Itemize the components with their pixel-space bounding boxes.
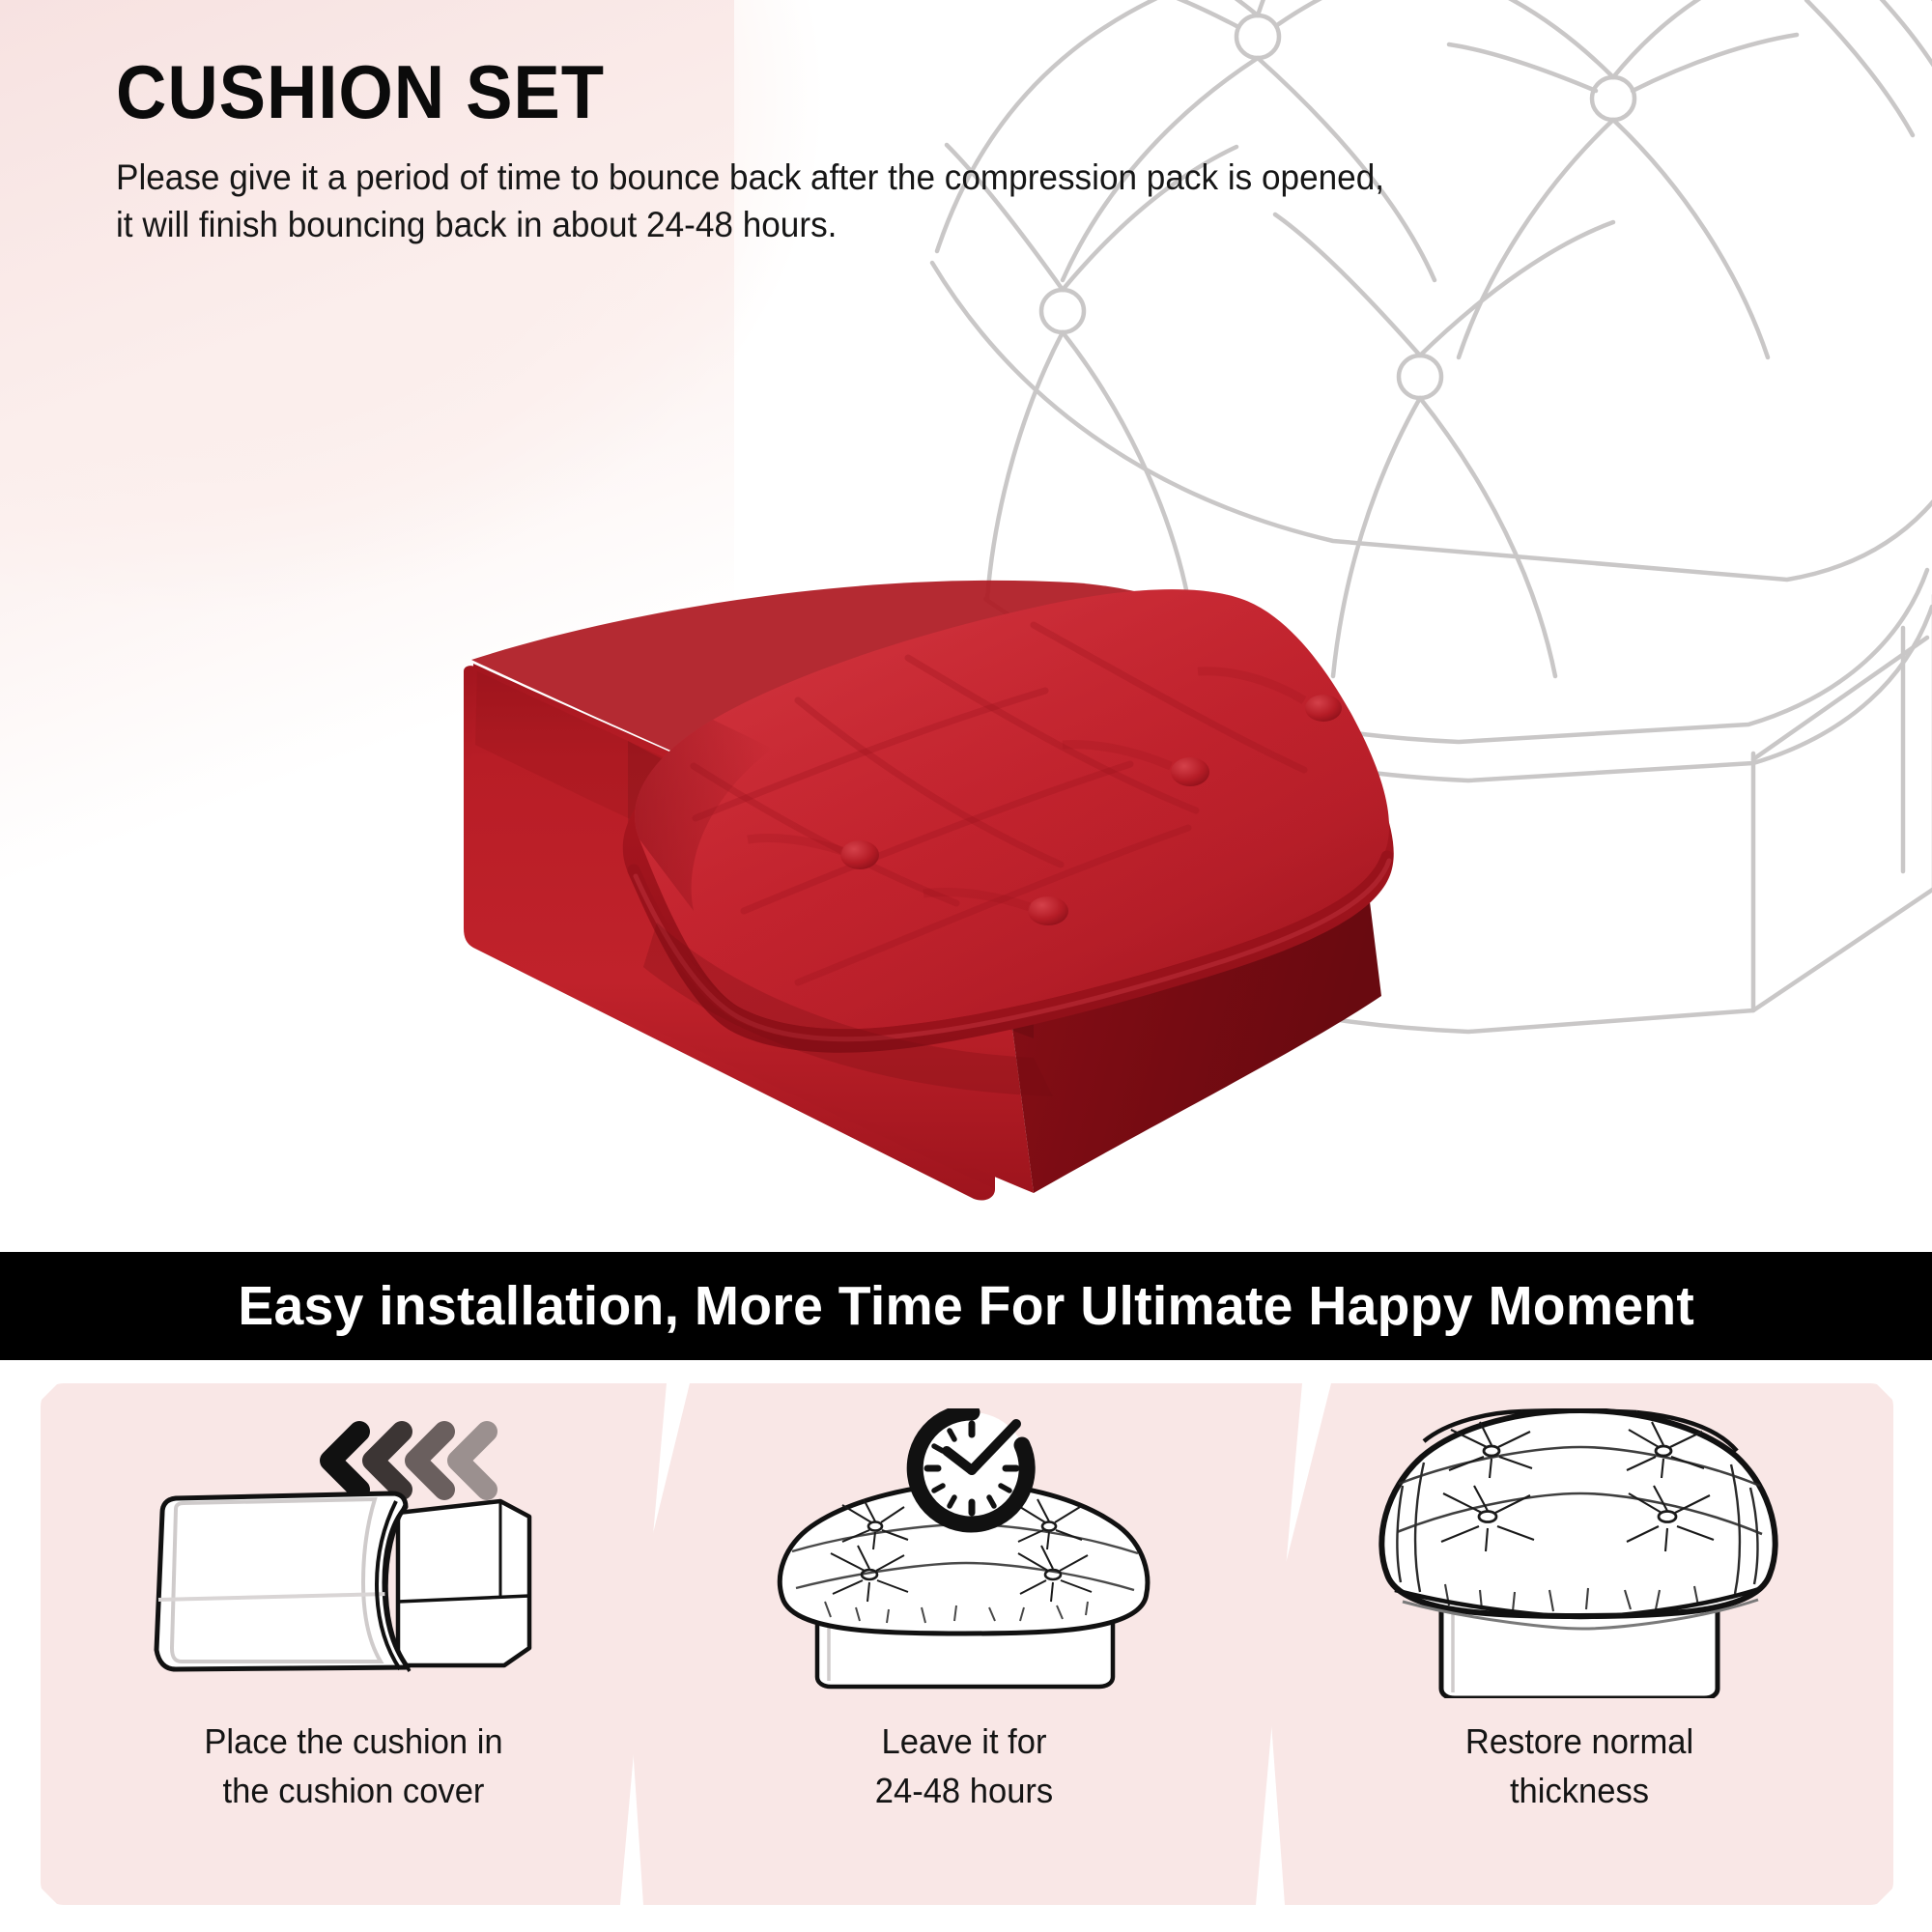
cushion-cover-shape [156, 1493, 410, 1671]
clock-icon [915, 1412, 1028, 1524]
step-2-caption: Leave it for 24-48 hours [639, 1717, 1289, 1815]
subtitle-line-2: it will finish bouncing back in about 24… [116, 201, 1401, 249]
promo-banner: Easy installation, More Time For Ultimat… [0, 1252, 1932, 1360]
step-3-illustration [1265, 1408, 1893, 1698]
red-cushion-product-image [454, 382, 1449, 1251]
installation-steps: Place the cushion in the cushion cover [0, 1383, 1932, 1932]
step-1-caption: Place the cushion in the cushion cover [53, 1717, 654, 1815]
step-1-illustration [41, 1408, 667, 1698]
step-panel-3[interactable]: Restore normal thickness [1265, 1383, 1893, 1905]
chevron-left-sequence-icon [330, 1432, 487, 1490]
page-title: CUSHION SET [116, 56, 1374, 128]
step-panel-1[interactable]: Place the cushion in the cushion cover [41, 1383, 667, 1905]
step-2-caption-line-2: 24-48 hours [639, 1766, 1289, 1815]
step-3-caption-line-1: Restore normal [1278, 1717, 1881, 1766]
infographic-canvas: CUSHION SET Please give it a period of t… [0, 0, 1932, 1932]
step-1-caption-line-1: Place the cushion in [53, 1717, 654, 1766]
tufted-cushion-shape [1381, 1410, 1775, 1616]
step-3-caption-line-2: thickness [1278, 1766, 1881, 1815]
cushion-with-clock-icon [742, 1408, 1186, 1698]
step-panel-2[interactable]: Leave it for 24-48 hours [626, 1383, 1302, 1905]
step-2-illustration [626, 1408, 1302, 1698]
step-3-caption: Restore normal thickness [1278, 1717, 1881, 1815]
inner-cushion-shape [398, 1501, 529, 1665]
step-1-caption-line-2: the cushion cover [53, 1766, 654, 1815]
subtitle-line-1: Please give it a period of time to bounc… [116, 154, 1401, 202]
step-2-caption-line-1: Leave it for [639, 1717, 1289, 1766]
restored-cushion-icon [1352, 1408, 1806, 1698]
cushion-into-cover-icon [83, 1408, 624, 1698]
hero-section: CUSHION SET Please give it a period of t… [0, 0, 1932, 1252]
headline-block: CUSHION SET Please give it a period of t… [116, 56, 1468, 249]
promo-banner-text: Easy installation, More Time For Ultimat… [238, 1274, 1694, 1338]
